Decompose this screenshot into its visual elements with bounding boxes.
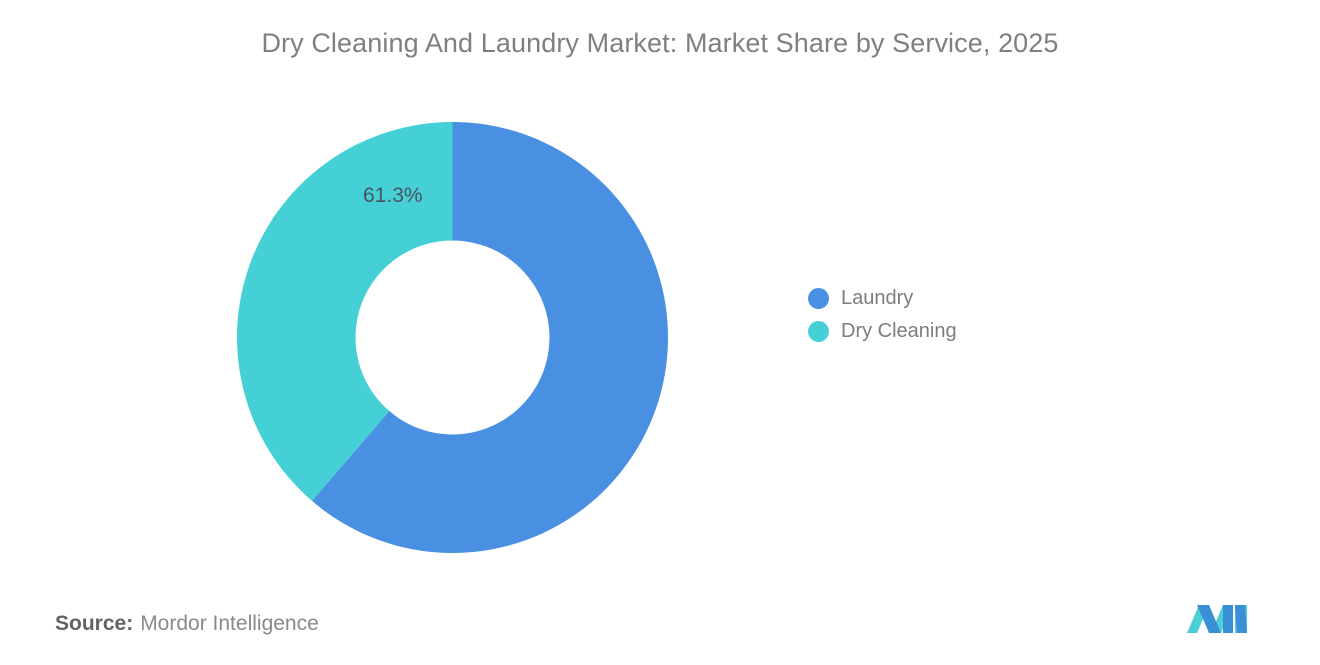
pie-slice-label-laundry: 61.3% — [363, 184, 423, 208]
chart-page: Dry Cleaning And Laundry Market: Market … — [0, 0, 1320, 665]
source-label: Source: — [55, 612, 133, 635]
donut-chart: 61.3% — [237, 122, 668, 553]
source-value: Mordor Intelligence — [140, 612, 319, 635]
legend-label-laundry: Laundry — [841, 287, 913, 310]
legend-swatch-laundry — [808, 288, 829, 309]
legend-item-dry-cleaning[interactable]: Dry Cleaning — [808, 315, 957, 348]
source-line: Source:Mordor Intelligence — [55, 612, 319, 636]
chart-legend: Laundry Dry Cleaning — [808, 282, 957, 348]
donut-chart-svg — [237, 122, 668, 553]
legend-item-laundry[interactable]: Laundry — [808, 282, 957, 315]
page-title: Dry Cleaning And Laundry Market: Market … — [0, 28, 1320, 59]
mordor-intelligence-logo-icon — [1185, 599, 1253, 639]
legend-swatch-dry-cleaning — [808, 321, 829, 342]
legend-label-dry-cleaning: Dry Cleaning — [841, 320, 957, 343]
